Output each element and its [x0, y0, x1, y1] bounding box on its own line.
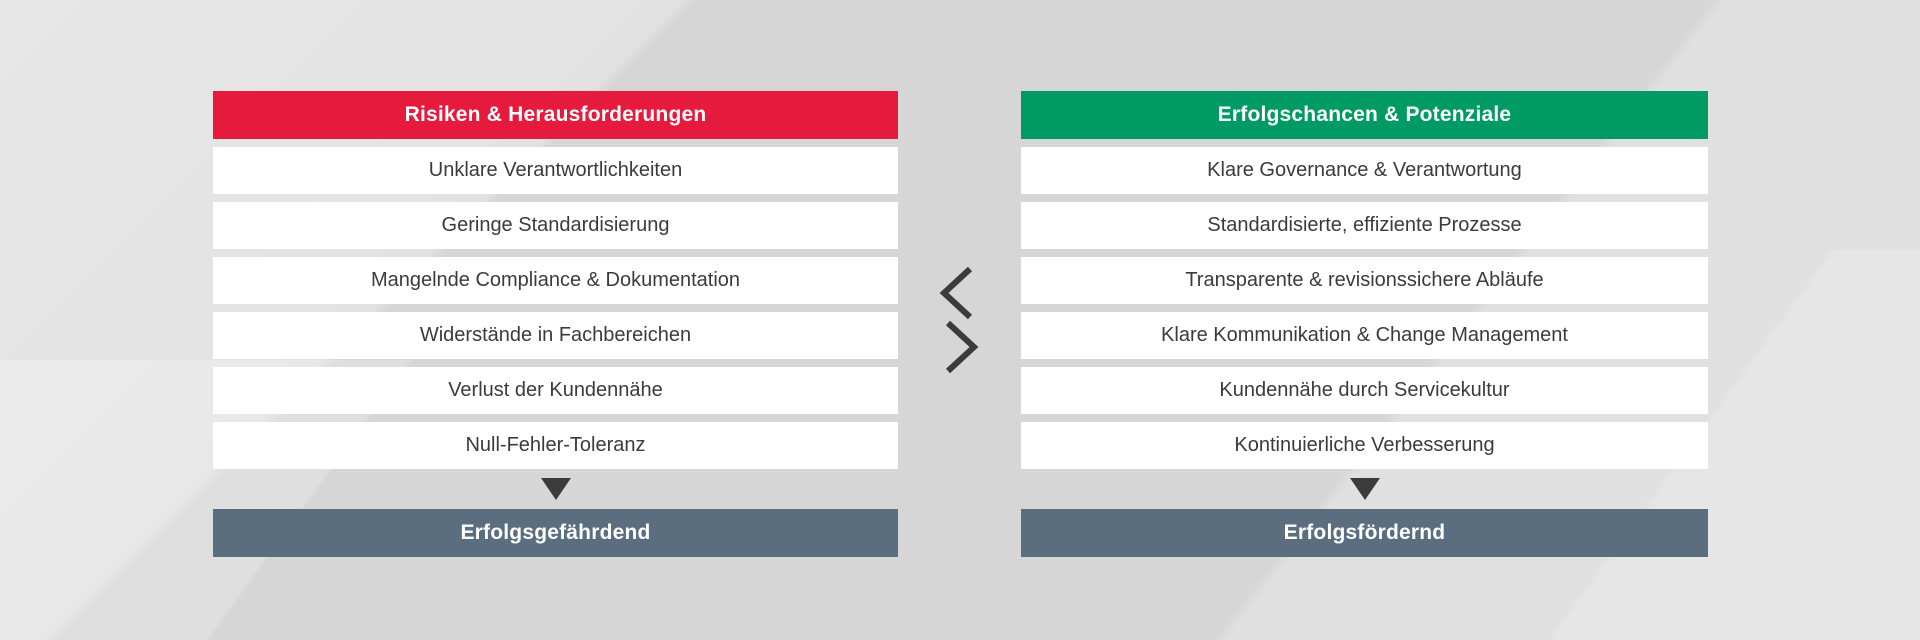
diagram-canvas: Risiken & Herausforderungen Unklare Vera… — [0, 0, 1920, 640]
list-item: Kundennähe durch Servicekultur — [1021, 367, 1708, 414]
connector-chevrons-svg — [930, 255, 990, 385]
risk-panel-header: Risiken & Herausforderungen — [213, 91, 898, 139]
list-item: Klare Kommunikation & Change Management — [1021, 312, 1708, 359]
opportunity-arrow-container — [1021, 469, 1708, 509]
list-item: Verlust der Kundennähe — [213, 367, 898, 414]
list-item: Transparente & revisionssichere Abläufe — [1021, 257, 1708, 304]
risk-panel-footer: Erfolgsgefährdend — [213, 509, 898, 557]
chevron-left-icon — [944, 269, 970, 317]
list-item: Klare Governance & Verantwortung — [1021, 147, 1708, 194]
list-item: Null-Fehler-Toleranz — [213, 422, 898, 469]
list-item: Widerstände in Fachbereichen — [213, 312, 898, 359]
chevron-right-icon — [948, 323, 974, 371]
list-item: Geringe Standardisierung — [213, 202, 898, 249]
opportunity-panel-footer: Erfolgsfördernd — [1021, 509, 1708, 557]
list-item: Kontinuierliche Verbesserung — [1021, 422, 1708, 469]
list-item: Unklare Verantwortlichkeiten — [213, 147, 898, 194]
triangle-down-icon — [1350, 478, 1380, 500]
risk-item-list: Unklare Verantwortlichkeiten Geringe Sta… — [213, 147, 898, 469]
opportunity-panel-header: Erfolgschancen & Potenziale — [1021, 91, 1708, 139]
list-item: Standardisierte, effiziente Prozesse — [1021, 202, 1708, 249]
list-item: Mangelnde Compliance & Dokumentation — [213, 257, 898, 304]
risk-panel: Risiken & Herausforderungen Unklare Vera… — [213, 91, 898, 557]
opportunity-panel: Erfolgschancen & Potenziale Klare Govern… — [1021, 91, 1708, 557]
center-connector — [930, 255, 990, 385]
risk-arrow-container — [213, 469, 898, 509]
opportunity-item-list: Klare Governance & Verantwortung Standar… — [1021, 147, 1708, 469]
triangle-down-icon — [541, 478, 571, 500]
